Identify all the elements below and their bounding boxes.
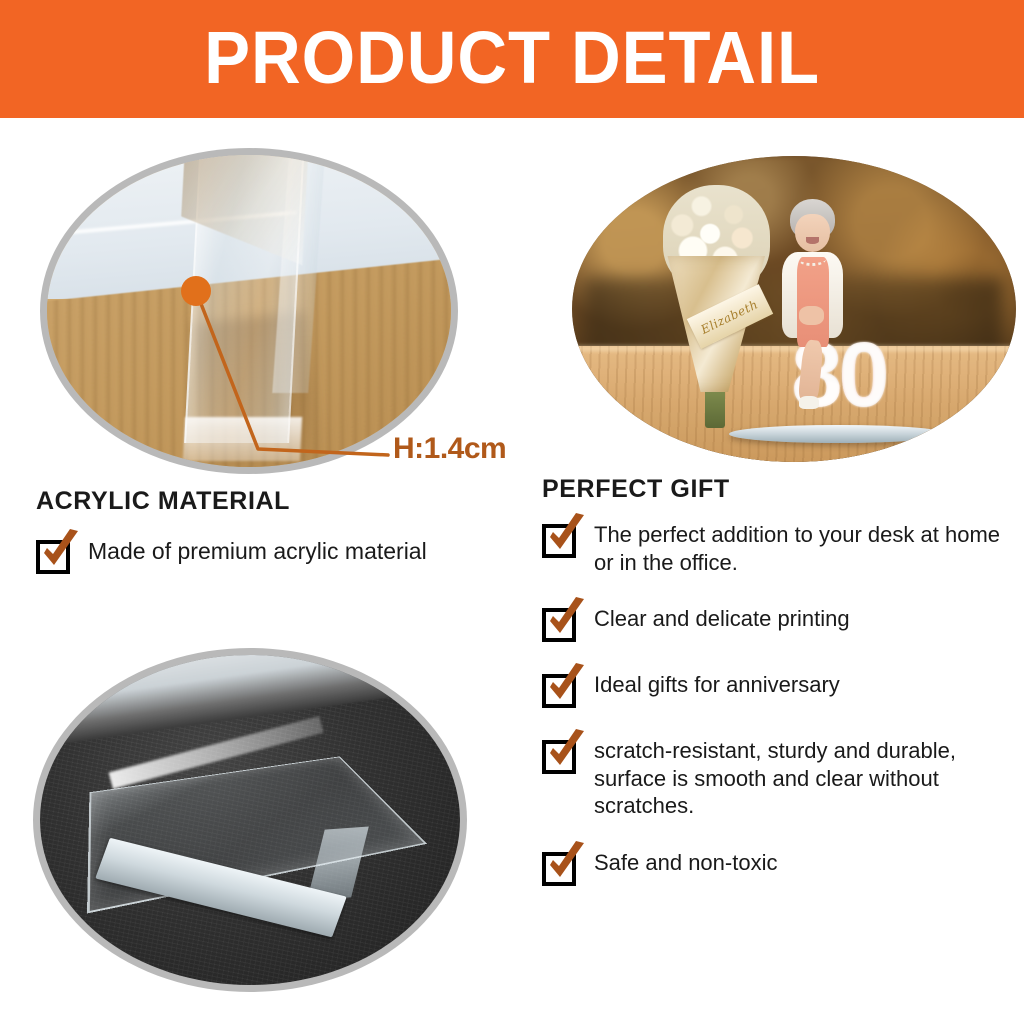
- list-item-label: Safe and non-toxic: [594, 846, 777, 877]
- list-item-label: The perfect addition to your desk at hom…: [594, 518, 1004, 576]
- check-icon: [542, 608, 576, 642]
- list-item: Safe and non-toxic: [542, 846, 1004, 886]
- perfect-gift-section: PERFECT GIFT The perfect addition to you…: [542, 475, 1004, 912]
- perfect-gift-feature-list: The perfect addition to your desk at hom…: [542, 518, 1004, 886]
- lady-shoes: [799, 396, 819, 409]
- check-icon: [542, 852, 576, 886]
- list-item-label: scratch-resistant, sturdy and durable, s…: [594, 734, 1004, 820]
- list-item: The perfect addition to your desk at hom…: [542, 518, 1004, 576]
- check-icon: [542, 674, 576, 708]
- acrylic-material-section: ACRYLIC MATERIAL Made of premium acrylic…: [36, 487, 516, 574]
- perfect-gift-heading: PERFECT GIFT: [542, 475, 1004, 504]
- lady-hands: [799, 306, 824, 325]
- lady-pearl-necklace: [798, 252, 826, 266]
- page-title: PRODUCT DETAIL: [204, 21, 820, 95]
- check-icon: [542, 740, 576, 774]
- acrylic-material-feature-list: Made of premium acrylic material: [36, 534, 516, 574]
- acrylic-edge-thickness-photo: [47, 155, 451, 467]
- bouquet-stems: [705, 392, 725, 427]
- list-item: Clear and delicate printing: [542, 602, 1004, 642]
- personalized-80th-birthday-gift-photo: Elizabeth 80: [572, 156, 1016, 462]
- seated-lady-figure: [767, 199, 856, 413]
- lady-smile: [806, 237, 819, 243]
- lady-legs: [798, 339, 824, 401]
- list-item: Made of premium acrylic material: [36, 534, 516, 574]
- thickness-dimension-label: H:1.4cm: [393, 432, 506, 466]
- list-item: scratch-resistant, sturdy and durable, s…: [542, 734, 1004, 820]
- acrylic-material-heading: ACRYLIC MATERIAL: [36, 487, 516, 516]
- list-item-label: Clear and delicate printing: [594, 602, 850, 633]
- acrylic-block-on-slate-photo: [40, 655, 460, 985]
- list-item-label: Ideal gifts for anniversary: [594, 668, 840, 699]
- lady-dress: [797, 257, 829, 347]
- lady-face: [795, 214, 830, 253]
- list-item-label: Made of premium acrylic material: [88, 534, 427, 566]
- page-header-banner: PRODUCT DETAIL: [0, 0, 1024, 118]
- acrylic-base-highlight: [183, 417, 302, 461]
- check-icon: [36, 540, 70, 574]
- check-icon: [542, 524, 576, 558]
- list-item: Ideal gifts for anniversary: [542, 668, 1004, 708]
